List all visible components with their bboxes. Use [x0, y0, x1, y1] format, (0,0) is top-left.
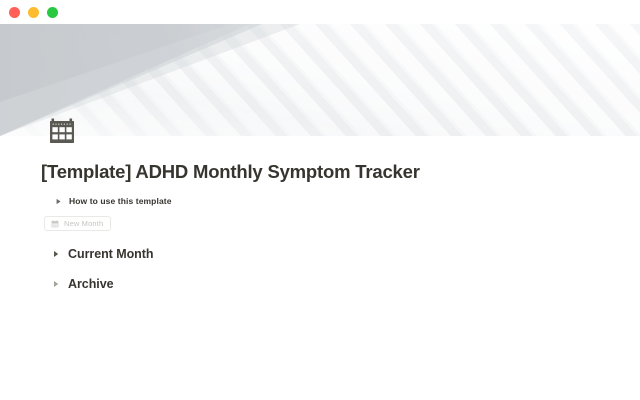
page-title[interactable]: [Template] ADHD Monthly Symptom Tracker [41, 160, 601, 184]
cover-artwork [0, 24, 640, 136]
chevron-right-icon[interactable] [48, 276, 64, 292]
page-cover-image[interactable] [0, 24, 640, 136]
toggle-label-how-to-use: How to use this template [66, 194, 172, 208]
page-icon-calendar[interactable] [48, 117, 78, 147]
chevron-right-icon[interactable] [50, 193, 66, 209]
calendar-icon [48, 117, 78, 147]
toggle-block-current-month[interactable]: Current Month [48, 245, 601, 263]
toggle-block-archive[interactable]: Archive [48, 275, 601, 293]
chevron-right-icon[interactable] [48, 246, 64, 262]
toggle-label-current-month: Current Month [64, 245, 153, 263]
toggle-block-how-to-use[interactable]: How to use this template [50, 193, 601, 209]
close-window-button[interactable] [9, 7, 20, 18]
window-titlebar [0, 0, 640, 24]
minimize-window-button[interactable] [28, 7, 39, 18]
traffic-light-controls [9, 7, 58, 18]
zoom-window-button[interactable] [47, 7, 58, 18]
toggle-label-archive: Archive [64, 275, 114, 293]
calendar-mini-icon [51, 220, 59, 228]
app-window: [Template] ADHD Monthly Symptom Tracker … [0, 0, 640, 400]
page-content: [Template] ADHD Monthly Symptom Tracker … [41, 160, 601, 293]
new-month-button[interactable]: New Month [44, 216, 111, 231]
new-month-button-label: New Month [64, 218, 103, 230]
